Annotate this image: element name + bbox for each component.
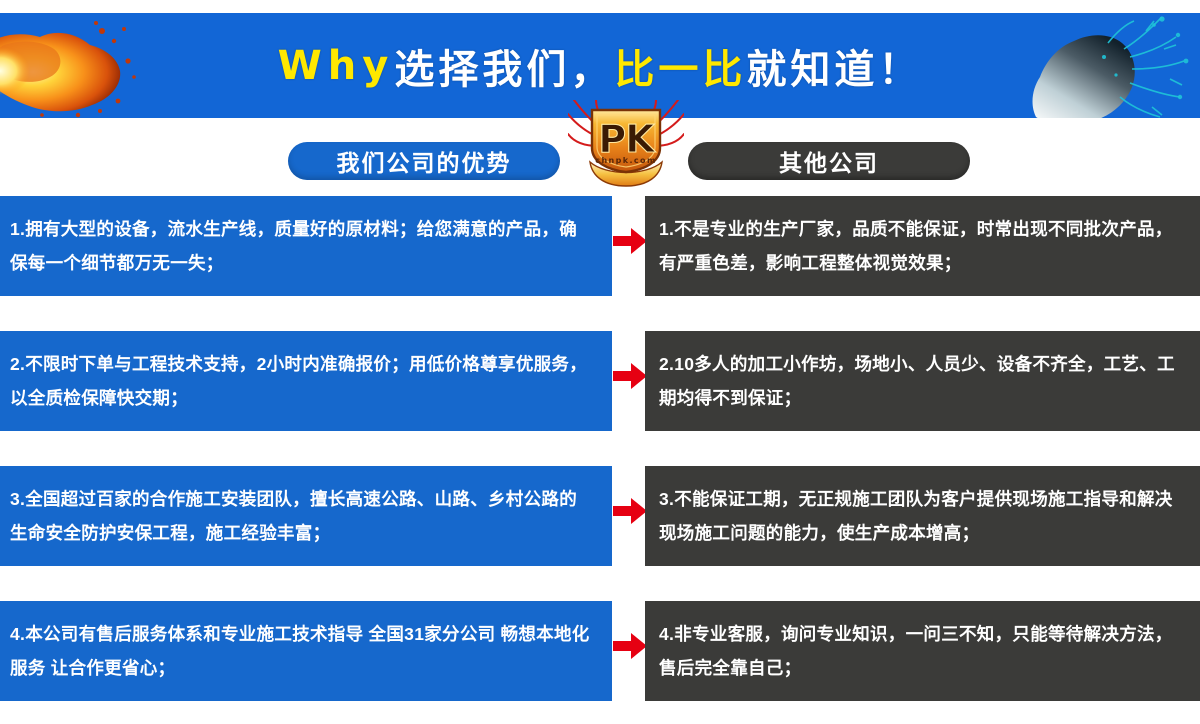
drawback-text: 3.不能保证工期，无正规施工团队为客户提供现场施工指导和解决现场施工问题的能力，… xyxy=(659,482,1186,550)
advantage-text: 2.不限时下单与工程技术支持，2小时内准确报价；用低价格尊享优服务，以全质检保障… xyxy=(10,347,594,415)
drawback-panel: 4.非专业客服，询问专业知识，一问三不知，只能等待解决方法，售后完全靠自己； xyxy=(645,601,1200,701)
advantage-text: 1.拥有大型的设备，流水生产线，质量好的原材料；给您满意的产品，确保每一个细节都… xyxy=(10,212,594,280)
comparison-row: 3.全国超过百家的合作施工安装团队，擅长高速公路、山路、乡村公路的生命安全防护安… xyxy=(0,466,1200,566)
drawback-text: 1.不是专业的生产厂家，品质不能保证，时常出现不同批次产品，有严重色差，影响工程… xyxy=(659,212,1186,280)
advantage-panel: 3.全国超过百家的合作施工安装团队，擅长高速公路、山路、乡村公路的生命安全防护安… xyxy=(0,466,612,566)
comparison-banner-page: Why选择我们，比一比就知道！ 我们公司的优势 其他公司 xyxy=(0,0,1200,724)
pk-logo-icon: PK chnpk.com xyxy=(568,100,684,188)
advantage-text: 4.本公司有售后服务体系和专业施工技术指导 全国31家分公司 畅想本地化服务 让… xyxy=(10,617,594,685)
pk-logo-text: PK xyxy=(598,117,656,161)
red-arrow-icon xyxy=(613,226,647,256)
advantage-panel: 2.不限时下单与工程技术支持，2小时内准确报价；用低价格尊享优服务，以全质检保障… xyxy=(0,331,612,431)
drawback-text: 4.非专业客服，询问专业知识，一问三不知，只能等待解决方法，售后完全靠自己； xyxy=(659,617,1186,685)
comparison-row: 2.不限时下单与工程技术支持，2小时内准确报价；用低价格尊享优服务，以全质检保障… xyxy=(0,331,1200,431)
red-arrow-icon xyxy=(613,361,647,391)
comparison-row: 1.拥有大型的设备，流水生产线，质量好的原材料；给您满意的产品，确保每一个细节都… xyxy=(0,196,1200,296)
advantage-panel: 4.本公司有售后服务体系和专业施工技术指导 全国31家分公司 畅想本地化服务 让… xyxy=(0,601,612,701)
drawback-panel: 3.不能保证工期，无正规施工团队为客户提供现场施工指导和解决现场施工问题的能力，… xyxy=(645,466,1200,566)
drawback-panel: 2.10多人的加工小作坊，场地小、人员少、设备不齐全，工艺、工期均得不到保证； xyxy=(645,331,1200,431)
drawback-panel: 1.不是专业的生产厂家，品质不能保证，时常出现不同批次产品，有严重色差，影响工程… xyxy=(645,196,1200,296)
comparison-row: 4.本公司有售后服务体系和专业施工技术指导 全国31家分公司 畅想本地化服务 让… xyxy=(0,601,1200,701)
title-part-3: 就知道！ xyxy=(746,37,922,95)
advantage-panel: 1.拥有大型的设备，流水生产线，质量好的原材料；给您满意的产品，确保每一个细节都… xyxy=(0,196,612,296)
title-part-1: 选择我们， xyxy=(394,37,614,95)
advantage-text: 3.全国超过百家的合作施工安装团队，擅长高速公路、山路、乡村公路的生命安全防护安… xyxy=(10,482,594,550)
red-arrow-icon xyxy=(613,631,647,661)
red-arrow-icon xyxy=(613,496,647,526)
title-part-0: Why xyxy=(278,43,395,89)
title-part-2: 比一比 xyxy=(614,37,746,95)
pk-logo-subtext: chnpk.com xyxy=(595,156,656,165)
drawback-text: 2.10多人的加工小作坊，场地小、人员少、设备不齐全，工艺、工期均得不到保证； xyxy=(659,347,1186,415)
